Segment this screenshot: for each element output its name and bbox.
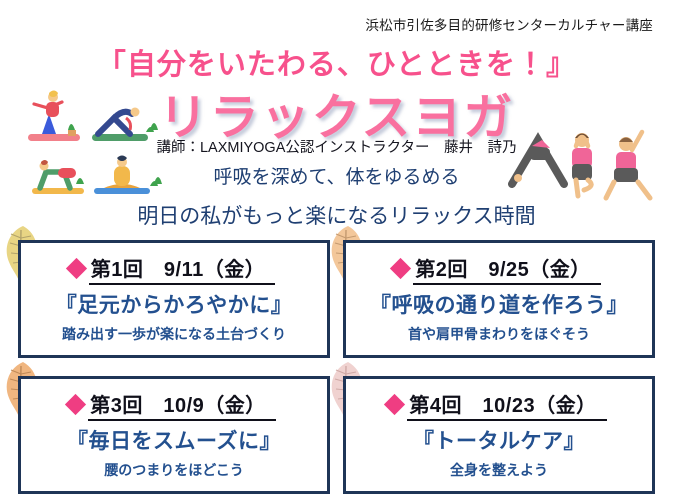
- diamond-icon: [384, 394, 405, 415]
- session-3-theme: 『毎日をスムーズに』: [67, 425, 281, 455]
- session-4-theme: 『トータルケア』: [413, 425, 585, 455]
- session-1-theme: 『足元からかろやかに』: [56, 289, 293, 319]
- flyer-page: 浜松市引佐多目的研修センターカルチャー講座 「自分をいたわる、ひとときを！』 リ…: [0, 0, 673, 504]
- session-3-date: 第3回 10/9（金）: [88, 389, 276, 421]
- session-4-description: 全身を整えよう: [450, 460, 548, 480]
- diamond-icon: [66, 258, 87, 279]
- session-4-date: 第4回 10/23（金）: [407, 389, 606, 421]
- session-card-2[interactable]: 第2回 9/25（金） 『呼吸の通り道を作ろう』 首や肩甲骨まわりをほぐそう: [343, 240, 655, 358]
- yoga-poses-pink-illustration: [508, 96, 668, 208]
- session-2-date: 第2回 9/25（金）: [413, 253, 601, 285]
- session-grid: 第1回 9/11（金） 『足元からかろやかに』 踏み出す一歩が楽になる土台づくり…: [0, 236, 673, 504]
- diamond-icon: [390, 258, 411, 279]
- session-1-date: 第1回 9/11（金）: [89, 253, 275, 285]
- session-2-date-row: 第2回 9/25（金）: [393, 253, 601, 285]
- session-card-4[interactable]: 第4回 10/23（金） 『トータルケア』 全身を整えよう: [343, 376, 655, 494]
- session-card-1-box: 第1回 9/11（金） 『足元からかろやかに』 踏み出す一歩が楽になる土台づくり: [18, 240, 330, 358]
- session-card-3[interactable]: 第3回 10/9（金） 『毎日をスムーズに』 腰のつまりをほどこう: [18, 376, 330, 494]
- session-1-date-row: 第1回 9/11（金）: [69, 253, 275, 285]
- diamond-icon: [65, 394, 86, 415]
- yoga-poses-colorful-illustration: [22, 84, 190, 202]
- sub-title: 「自分をいたわる、ひとときを！』: [0, 41, 673, 83]
- session-3-date-row: 第3回 10/9（金）: [68, 389, 276, 421]
- session-card-3-box: 第3回 10/9（金） 『毎日をスムーズに』 腰のつまりをほどこう: [18, 376, 330, 494]
- session-2-description: 首や肩甲骨まわりをほぐそう: [408, 324, 590, 344]
- session-card-2-box: 第2回 9/25（金） 『呼吸の通り道を作ろう』 首や肩甲骨まわりをほぐそう: [343, 240, 655, 358]
- session-1-description: 踏み出す一歩が楽になる土台づくり: [62, 324, 286, 344]
- venue-header: 浜松市引佐多目的研修センターカルチャー講座: [0, 14, 653, 34]
- session-card-1[interactable]: 第1回 9/11（金） 『足元からかろやかに』 踏み出す一歩が楽になる土台づくり: [18, 240, 330, 358]
- session-card-4-box: 第4回 10/23（金） 『トータルケア』 全身を整えよう: [343, 376, 655, 494]
- session-3-description: 腰のつまりをほどこう: [104, 460, 244, 480]
- session-2-theme: 『呼吸の通り道を作ろう』: [370, 289, 628, 319]
- session-4-date-row: 第4回 10/23（金）: [387, 389, 606, 421]
